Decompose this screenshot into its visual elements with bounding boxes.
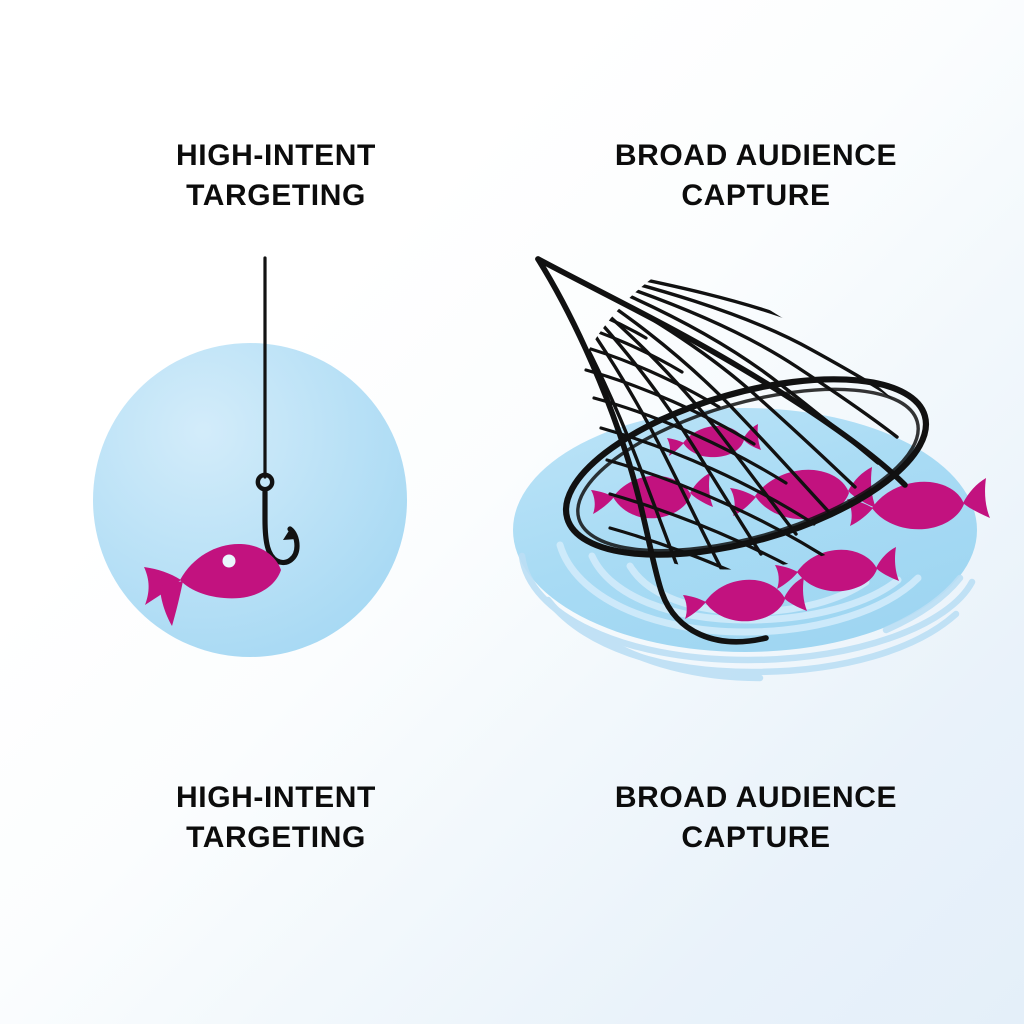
net-rim bbox=[547, 345, 945, 590]
water-ripples-outer bbox=[522, 556, 972, 678]
title-left-bottom: HIGH-INTENT TARGETING bbox=[86, 778, 466, 858]
net-bag-outline bbox=[538, 259, 766, 642]
net-radial-strands bbox=[538, 259, 925, 582]
net-rim-inner bbox=[560, 357, 935, 583]
fishing-hook-icon bbox=[265, 490, 297, 563]
fish-net-center bbox=[730, 467, 876, 519]
fish-left-primary bbox=[144, 544, 281, 626]
fish-water-midright bbox=[775, 547, 899, 591]
fish-water-bottom bbox=[683, 577, 807, 621]
water-ripples-inner bbox=[560, 545, 918, 632]
title-right-top: BROAD AUDIENCE CAPTURE bbox=[546, 136, 966, 216]
hook-eye-icon bbox=[258, 475, 272, 489]
title-right-top-line2: CAPTURE bbox=[546, 176, 966, 216]
fishing-net bbox=[538, 259, 945, 684]
title-left-bottom-line1: HIGH-INTENT bbox=[176, 781, 376, 814]
title-right-bottom-line2: CAPTURE bbox=[546, 818, 966, 858]
title-left-top-line2: TARGETING bbox=[86, 176, 466, 216]
fish-net-left bbox=[591, 473, 713, 518]
net-ring-strands bbox=[551, 283, 876, 684]
water-pool bbox=[513, 408, 977, 652]
title-left-bottom-line2: TARGETING bbox=[86, 818, 466, 858]
left-water-circle bbox=[93, 343, 407, 657]
net-back-outline bbox=[538, 259, 905, 485]
title-left-top: HIGH-INTENT TARGETING bbox=[86, 136, 466, 216]
fish-water-right bbox=[847, 478, 990, 529]
poster-canvas: HIGH-INTENT TARGETING BROAD AUDIENCE CAP… bbox=[0, 0, 1024, 1024]
title-right-bottom: BROAD AUDIENCE CAPTURE bbox=[546, 778, 966, 858]
fish-net-top bbox=[667, 424, 761, 457]
fish-eye bbox=[223, 555, 236, 568]
title-right-top-line1: BROAD AUDIENCE bbox=[615, 139, 897, 172]
hook-barb-icon bbox=[283, 529, 296, 540]
title-left-top-line1: HIGH-INTENT bbox=[176, 139, 376, 172]
title-right-bottom-line1: BROAD AUDIENCE bbox=[615, 781, 897, 814]
